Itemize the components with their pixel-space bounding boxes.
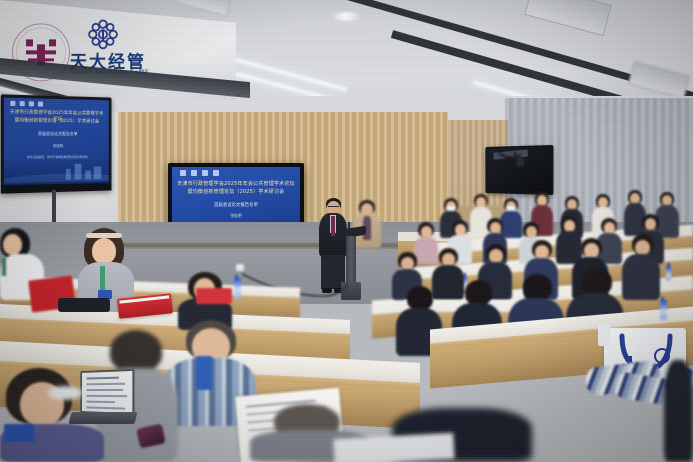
main-slide-presenter: 张桂明 [185, 214, 287, 219]
slide-skyline-graphic [4, 156, 109, 185]
slide-icon-row [11, 101, 44, 107]
camera-rig-icon [495, 150, 529, 174]
left-slide-presenter: 张桂明 [15, 143, 99, 148]
plate [48, 386, 82, 400]
water-bottle [234, 278, 241, 298]
tianjin-university-emblem-icon [86, 17, 120, 51]
water-bottle [660, 300, 667, 320]
audience-person-front [664, 360, 693, 462]
ceiling-vent [628, 61, 690, 99]
main-slide-title-1: 天津市行政管理学会2025年年会公共管理学术论坛 [177, 181, 295, 188]
audience-person [622, 234, 660, 300]
badge [4, 424, 34, 442]
left-slide-subtitle: 首届会议论文报告名单 [15, 131, 99, 137]
main-slide-subtitle: 首届会议论文报告名单 [185, 202, 287, 208]
conference-photo: 天大经管 Tianjin University CoME 天津市行政管理学会20… [0, 0, 693, 462]
handbag [58, 298, 110, 312]
ceiling-speaker [333, 12, 363, 21]
paper-sheet [333, 433, 454, 462]
water-bottle [666, 266, 671, 281]
lanyard [100, 266, 105, 292]
main-slide-title-2: 暨均衡创新管理论坛（2025）学术研讨会 [177, 189, 295, 196]
left-slide-title-2: 暨均衡创新管理论坛（2025）学术研讨会 [8, 118, 104, 126]
lanyard [196, 356, 212, 390]
floor-outlet [236, 264, 244, 271]
left-wall-display: 天津市行政管理学会2025年年会公共管理学术论坛 暨均衡创新管理论坛（2025）… [1, 94, 112, 193]
ceiling-vent [175, 0, 232, 17]
ceiling-vent [524, 0, 611, 36]
red-folder [196, 288, 232, 304]
lanyard [2, 258, 6, 276]
